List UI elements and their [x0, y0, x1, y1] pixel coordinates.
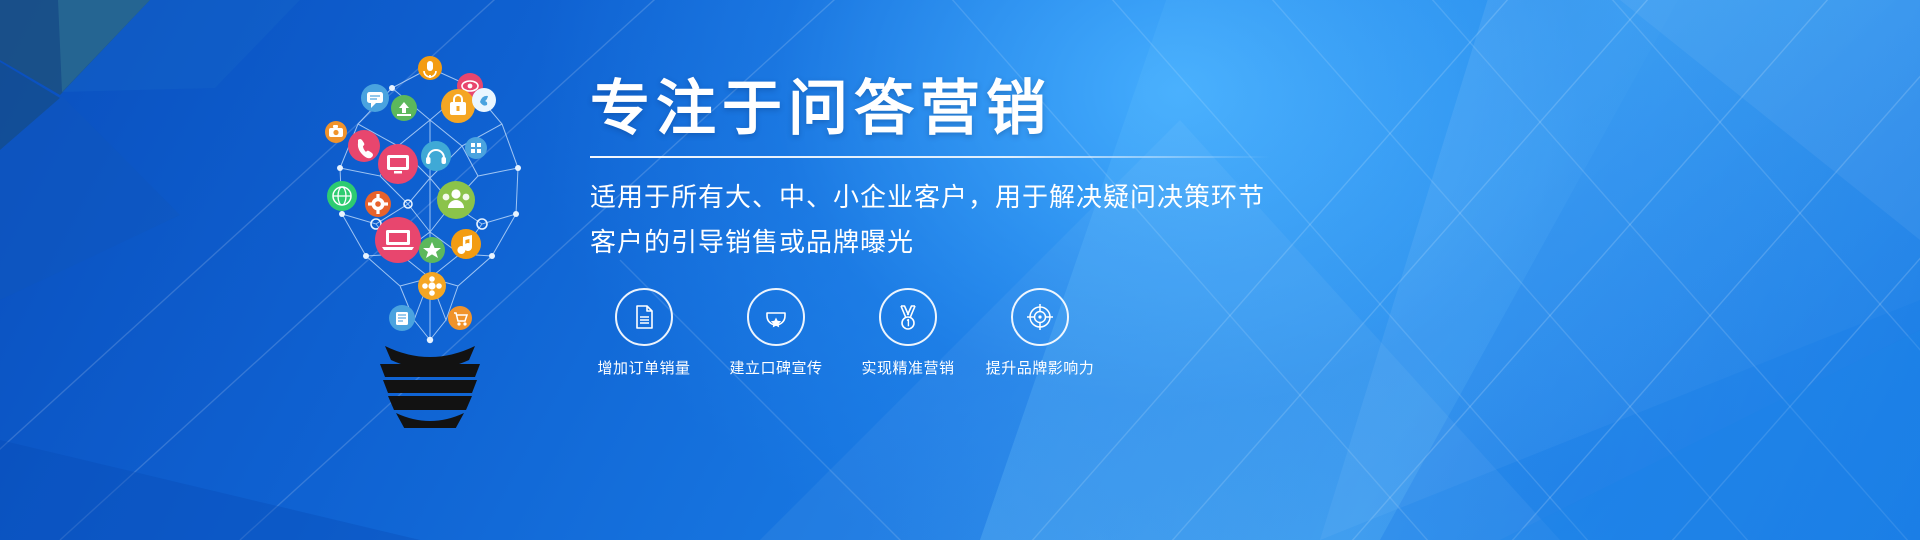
feature-item-word-of-mouth[interactable]: 建立口碑宣传	[727, 288, 825, 378]
title-divider	[590, 156, 1270, 158]
document-order-icon	[615, 288, 673, 346]
feature-label: 建立口碑宣传	[729, 357, 822, 378]
target-crosshair-icon	[1011, 288, 1069, 346]
page-title: 专注于问答营销	[590, 78, 1310, 140]
feature-item-brand-influence[interactable]: 提升品牌影响力	[991, 288, 1089, 378]
subtitle-line-1: 适用于所有大、中、小企业客户，用于解决疑问决策环节	[590, 176, 1310, 218]
trophy-star-icon	[747, 288, 805, 346]
feature-label: 增加订单销量	[597, 357, 690, 378]
network-node-icons	[325, 56, 496, 331]
feature-item-increase-orders[interactable]: 增加订单销量	[595, 288, 693, 378]
feature-item-precision-marketing[interactable]: 实现精准营销	[859, 288, 957, 378]
subtitle-line-2: 客户的引导销售或品牌曝光	[590, 221, 1310, 263]
medal-number-one-icon	[879, 288, 937, 346]
feature-label: 实现精准营销	[861, 357, 954, 378]
feature-list: 增加订单销量 建立口碑宣传	[595, 288, 1089, 378]
lightbulb-network-illustration	[280, 28, 580, 428]
lightbulb-base	[380, 346, 480, 428]
feature-label: 提升品牌影响力	[986, 357, 1095, 378]
promo-banner: 专注于问答营销 适用于所有大、中、小企业客户，用于解决疑问决策环节 客户的引导销…	[0, 0, 1920, 540]
